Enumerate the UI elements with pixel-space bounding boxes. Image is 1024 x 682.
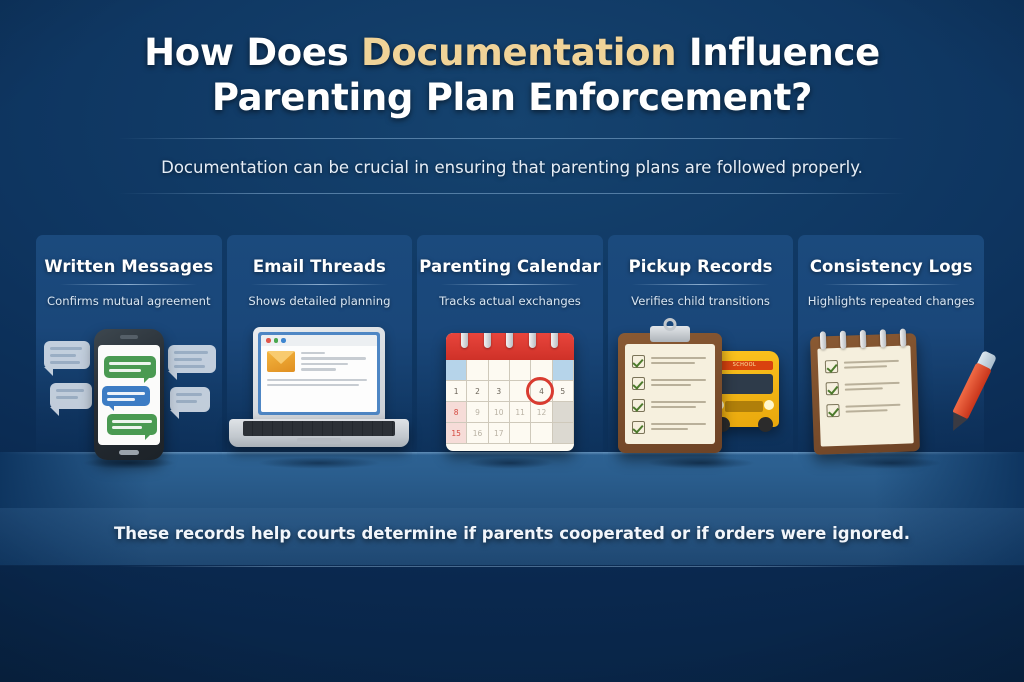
keyboard-icon: [243, 421, 395, 436]
card-divider: [823, 284, 960, 285]
clipboard-ring-icon: [663, 318, 676, 331]
calendar-cell: 5: [553, 381, 574, 402]
checklist-lines: [651, 423, 708, 433]
title-text-pre: How Does: [144, 31, 361, 74]
bus-grill: [725, 401, 763, 412]
footer-text: These records help courts determine if p…: [0, 524, 1024, 543]
bus-windshield: [715, 374, 773, 394]
object-shadow: [821, 455, 961, 471]
clipboard-school-bus-illustration: SCHOOL: [608, 327, 794, 467]
email-footer-lines: [261, 379, 377, 387]
wall-calendar-illustration: 1 2 3 4 5 8 9 10 11 12 15 16: [417, 327, 603, 467]
maximize-icon: [281, 338, 286, 343]
card-row: Written Messages Confirms mutual agreeme…: [36, 235, 984, 465]
title-text-post: Influence: [676, 31, 880, 74]
laptop-keyboard-base: [229, 419, 409, 447]
circled-date-marker: [526, 377, 554, 405]
laptop-display: [258, 332, 380, 415]
laptop-screen: [253, 327, 385, 420]
smartphone-chat-bubbles-illustration: [36, 327, 222, 467]
pen-icon: [945, 350, 998, 435]
spiral-ring-icon: [506, 333, 513, 348]
calendar-spiral-rings: [446, 333, 574, 348]
spiral-ring-icon: [484, 333, 491, 348]
calendar-cell: 16: [467, 423, 488, 444]
calendar-cell: [531, 423, 552, 444]
checklist-item: [632, 421, 708, 434]
spiral-ring-icon: [880, 329, 887, 347]
ghost-bubble-icon: [44, 341, 90, 369]
checkmark-icon: [632, 399, 645, 412]
checklist-lines: [651, 401, 708, 411]
spiral-ring-icon: [529, 333, 536, 348]
ghost-bubble-icon: [168, 345, 216, 373]
ghost-bubble-icon: [170, 387, 210, 412]
card-pickup-records[interactable]: Pickup Records Verifies child transition…: [608, 235, 794, 465]
spiral-ring-icon: [551, 333, 558, 348]
checklist-lines: [846, 403, 906, 415]
card-subtitle: Highlights repeated changes: [798, 294, 984, 308]
notepad-spiral-rings: [820, 329, 907, 350]
trackpad-icon: [297, 438, 341, 444]
notepad-icon: [810, 333, 920, 455]
card-divider: [251, 284, 388, 285]
checkmark-icon: [632, 355, 645, 368]
envelope-icon: [267, 351, 295, 372]
card-title: Written Messages: [36, 257, 222, 276]
spiral-ring-icon: [820, 331, 827, 349]
calendar-cell: [553, 423, 574, 444]
notepad-pen-checklist-illustration: [798, 327, 984, 467]
title-highlight-word: Documentation: [361, 31, 676, 74]
title-line-1: How Does Documentation Influence: [144, 31, 880, 74]
window-title-bar: [261, 335, 377, 346]
phone-home-indicator: [119, 450, 139, 455]
calendar-cell: [510, 423, 531, 444]
calendar-cell: [553, 402, 574, 423]
phone-screen: [98, 345, 160, 445]
calendar-cell: 2: [467, 381, 488, 402]
clipboard-icon: [618, 333, 722, 453]
page-subtitle: Documentation can be crucial in ensuring…: [0, 158, 1024, 177]
checklist-lines: [651, 379, 708, 389]
checklist-item: [632, 399, 708, 412]
email-body: [261, 346, 377, 379]
checkmark-icon: [827, 404, 840, 417]
close-icon: [266, 338, 271, 343]
checkmark-icon: [825, 360, 838, 373]
checklist-lines: [844, 359, 904, 371]
spiral-ring-icon: [900, 329, 907, 347]
card-title: Email Threads: [227, 257, 413, 276]
checklist-item: [826, 380, 905, 396]
card-parenting-calendar[interactable]: Parenting Calendar Tracks actual exchang…: [417, 235, 603, 465]
object-shadow: [450, 455, 570, 471]
pen-body: [952, 362, 992, 420]
card-title: Pickup Records: [608, 257, 794, 276]
card-subtitle: Shows detailed planning: [227, 294, 413, 308]
checklist-item: [827, 402, 906, 418]
checklist-item: [825, 358, 904, 374]
page-title: How Does Documentation Influence Parenti…: [0, 30, 1024, 120]
chat-bubble-outgoing: [107, 414, 157, 435]
bus-wheel-icon: [758, 417, 773, 432]
chat-bubble-outgoing: [104, 356, 156, 378]
calendar-cell: [510, 360, 531, 381]
email-text-lines: [301, 351, 371, 374]
card-written-messages[interactable]: Written Messages Confirms mutual agreeme…: [36, 235, 222, 465]
phone-speaker-icon: [120, 335, 138, 339]
divider-below-subtitle: [118, 193, 906, 194]
calendar-grid: 1 2 3 4 5 8 9 10 11 12 15 16: [446, 360, 574, 444]
checklist-item: [632, 377, 708, 390]
checklist-item: [632, 355, 708, 368]
footer-divider: [118, 566, 906, 567]
calendar-icon: 1 2 3 4 5 8 9 10 11 12 15 16: [446, 333, 574, 451]
card-divider: [60, 284, 197, 285]
calendar-cell: [467, 360, 488, 381]
laptop-email-client-illustration: [227, 327, 413, 467]
title-line-2: Parenting Plan Enforcement?: [212, 76, 812, 119]
calendar-cell: 17: [489, 423, 510, 444]
checklist-lines: [845, 381, 905, 393]
notepad-paper: [818, 345, 914, 446]
bus-label: SCHOOL: [715, 361, 773, 370]
calendar-cell: 11: [510, 402, 531, 423]
bus-headlight-icon: [764, 400, 774, 410]
object-shadow: [626, 455, 776, 471]
infographic-canvas: How Does Documentation Influence Parenti…: [0, 0, 1024, 682]
calendar-cell: 12: [531, 402, 552, 423]
calendar-cell: [553, 360, 574, 381]
spiral-ring-icon: [860, 330, 867, 348]
card-title: Consistency Logs: [798, 257, 984, 276]
email-window: [261, 335, 377, 412]
divider-above-subtitle: [118, 138, 906, 139]
card-subtitle: Confirms mutual agreement: [36, 294, 222, 308]
chat-bubble-incoming: [102, 386, 150, 406]
ghost-bubble-icon: [50, 383, 92, 409]
calendar-cell: 1: [446, 381, 467, 402]
spiral-ring-icon: [461, 333, 468, 348]
card-consistency-logs[interactable]: Consistency Logs Highlights repeated cha…: [798, 235, 984, 465]
card-divider: [441, 284, 578, 285]
checkmark-icon: [632, 377, 645, 390]
calendar-cell: [446, 360, 467, 381]
smartphone-icon: [94, 329, 164, 460]
spiral-ring-icon: [840, 331, 847, 349]
card-email-threads[interactable]: Email Threads Shows detailed planning: [227, 235, 413, 465]
calendar-cell: [489, 360, 510, 381]
card-title: Parenting Calendar: [417, 257, 603, 276]
calendar-cell: 3: [489, 381, 510, 402]
checkmark-icon: [632, 421, 645, 434]
checklist-lines: [651, 357, 708, 367]
calendar-cell: 8: [446, 402, 467, 423]
calendar-cell: 9: [467, 402, 488, 423]
card-divider: [632, 284, 769, 285]
card-subtitle: Verifies child transitions: [608, 294, 794, 308]
card-subtitle: Tracks actual exchanges: [417, 294, 603, 308]
checkmark-icon: [826, 382, 839, 395]
clipboard-paper: [625, 344, 715, 444]
calendar-cell: 10: [489, 402, 510, 423]
calendar-cell: 15: [446, 423, 467, 444]
minimize-icon: [274, 338, 279, 343]
object-shadow: [234, 455, 404, 471]
